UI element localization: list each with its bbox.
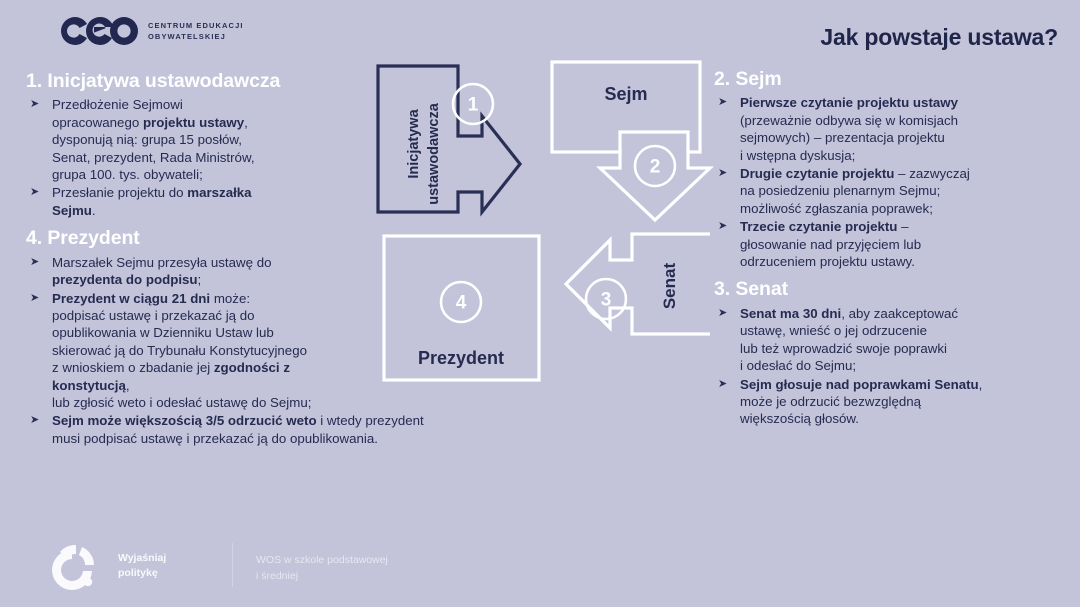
bullet-arrow-icon: ➤ (718, 376, 727, 393)
bullet-item: ➤Prezydent w ciągu 21 dni może:podpisać … (26, 290, 366, 412)
bullet-arrow-icon: ➤ (30, 412, 39, 429)
legislative-process-diagram: 1 Inicjatywa ustawodawcza Sejm 2 3 Senat (370, 44, 710, 394)
diagram-step-3-label: Senat (660, 263, 679, 310)
bullet-text: Senat ma 30 dni, aby zaakceptowaćustawę,… (740, 306, 958, 373)
bullet-arrow-icon: ➤ (30, 290, 39, 307)
bullet-arrow-icon: ➤ (30, 254, 39, 271)
diagram-step-2-number: 2 (650, 157, 661, 178)
footer-note-line2: i średniej (256, 569, 388, 585)
bullet-list: ➤Marszałek Sejmu przesyła ustawę doprezy… (26, 254, 366, 447)
bullet-item: ➤Sejm może większością 3/5 odrzucić weto… (26, 412, 572, 447)
section-heading: 3. Senat (714, 278, 1066, 300)
diagram-step-3-number: 3 (601, 290, 612, 311)
bullet-arrow-icon: ➤ (718, 305, 727, 322)
right-column: 2. Sejm➤Pierwsze czytanie projektu ustaw… (714, 68, 1066, 436)
wyjasniaj-polityke-logo (46, 541, 102, 591)
bullet-text: Przesłanie projektu do marszałkaSejmu. (52, 185, 252, 217)
bullet-arrow-icon: ➤ (30, 96, 39, 113)
bullet-item: ➤Przedłożenie Sejmowiopracowanego projek… (26, 96, 366, 183)
ceo-logo-line2: OBYWATELSKIEJ (148, 31, 244, 42)
footer-brand: Wyjaśniaj politykę (118, 551, 166, 581)
diagram-step-2-arrow: 2 (600, 146, 710, 220)
footer-note: WOS w szkole podstawowej i średniej (256, 553, 388, 585)
diagram-step-1-label-line1: Inicjatywa (406, 108, 422, 178)
bullet-list: ➤Przedłożenie Sejmowiopracowanego projek… (26, 96, 366, 219)
bullet-item: ➤Drugie czytanie projektu – zazwyczajna … (714, 165, 1066, 217)
bullet-list: ➤Senat ma 30 dni, aby zaakceptowaćustawę… (714, 305, 1066, 428)
diagram-step-3-arrow: 3 Senat (566, 234, 710, 334)
bullet-arrow-icon: ➤ (718, 218, 727, 235)
ceo-logo-mark (60, 16, 138, 46)
diagram-step-1-arrow: 1 Inicjatywa ustawodawcza (378, 66, 520, 212)
bullet-text: Trzecie czytanie projektu –głosowanie na… (740, 219, 921, 269)
bullet-text: Sejm może większością 3/5 odrzucić weto … (52, 413, 424, 445)
bullet-text: Prezydent w ciągu 21 dni może:podpisać u… (52, 291, 311, 410)
left-column: 1. Inicjatywa ustawodawcza➤Przedłożenie … (26, 70, 366, 455)
diagram-step-4-label: Prezydent (418, 348, 504, 368)
section-heading: 4. Prezydent (26, 227, 366, 249)
diagram-sejm-box: Sejm (552, 62, 700, 152)
footer-divider (232, 543, 233, 587)
footer-brand-line2: politykę (118, 566, 166, 581)
diagram-step-4-box: 4 Prezydent (384, 236, 539, 380)
bullet-arrow-icon: ➤ (718, 94, 727, 111)
bullet-text: Pierwsze czytanie projektu ustawy(przewa… (740, 95, 958, 162)
bullet-text: Przedłożenie Sejmowiopracowanego projekt… (52, 97, 255, 182)
bullet-item: ➤Trzecie czytanie projektu –głosowanie n… (714, 218, 1066, 270)
section-heading: 1. Inicjatywa ustawodawcza (26, 70, 366, 92)
bullet-item: ➤Senat ma 30 dni, aby zaakceptowaćustawę… (714, 305, 1066, 375)
bullet-item: ➤Pierwsze czytanie projektu ustawy(przew… (714, 94, 1066, 164)
ceo-logo: CENTRUM EDUKACJI OBYWATELSKIEJ (60, 16, 244, 46)
bullet-list: ➤Pierwsze czytanie projektu ustawy(przew… (714, 94, 1066, 270)
ceo-logo-line1: CENTRUM EDUKACJI (148, 20, 244, 31)
footer: Wyjaśniaj politykę WOS w szkole podstawo… (0, 533, 1080, 607)
diagram-step-1-number: 1 (468, 95, 479, 116)
footer-brand-line1: Wyjaśniaj (118, 551, 166, 566)
section-heading: 2. Sejm (714, 68, 1066, 90)
ceo-logo-wordmark: CENTRUM EDUKACJI OBYWATELSKIEJ (148, 20, 244, 43)
diagram-step-4-number: 4 (456, 293, 467, 314)
bullet-text: Marszałek Sejmu przesyła ustawę doprezyd… (52, 255, 272, 287)
slide-root: CENTRUM EDUKACJI OBYWATELSKIEJ Jak powst… (0, 0, 1080, 607)
bullet-item: ➤Sejm głosuje nad poprawkami Senatu,może… (714, 376, 1066, 428)
footer-note-line1: WOS w szkole podstawowej (256, 553, 388, 569)
bullet-text: Drugie czytanie projektu – zazwyczajna p… (740, 166, 970, 216)
page-title: Jak powstaje ustawa? (820, 24, 1058, 51)
bullet-item: ➤Przesłanie projektu do marszałkaSejmu. (26, 184, 366, 219)
diagram-sejm-label: Sejm (604, 84, 647, 104)
bullet-item: ➤Marszałek Sejmu przesyła ustawę doprezy… (26, 254, 366, 289)
bullet-arrow-icon: ➤ (30, 184, 39, 201)
bullet-text: Sejm głosuje nad poprawkami Senatu,może … (740, 377, 982, 427)
bullet-arrow-icon: ➤ (718, 165, 727, 182)
diagram-step-1-label-line2: ustawodawcza (426, 102, 442, 204)
